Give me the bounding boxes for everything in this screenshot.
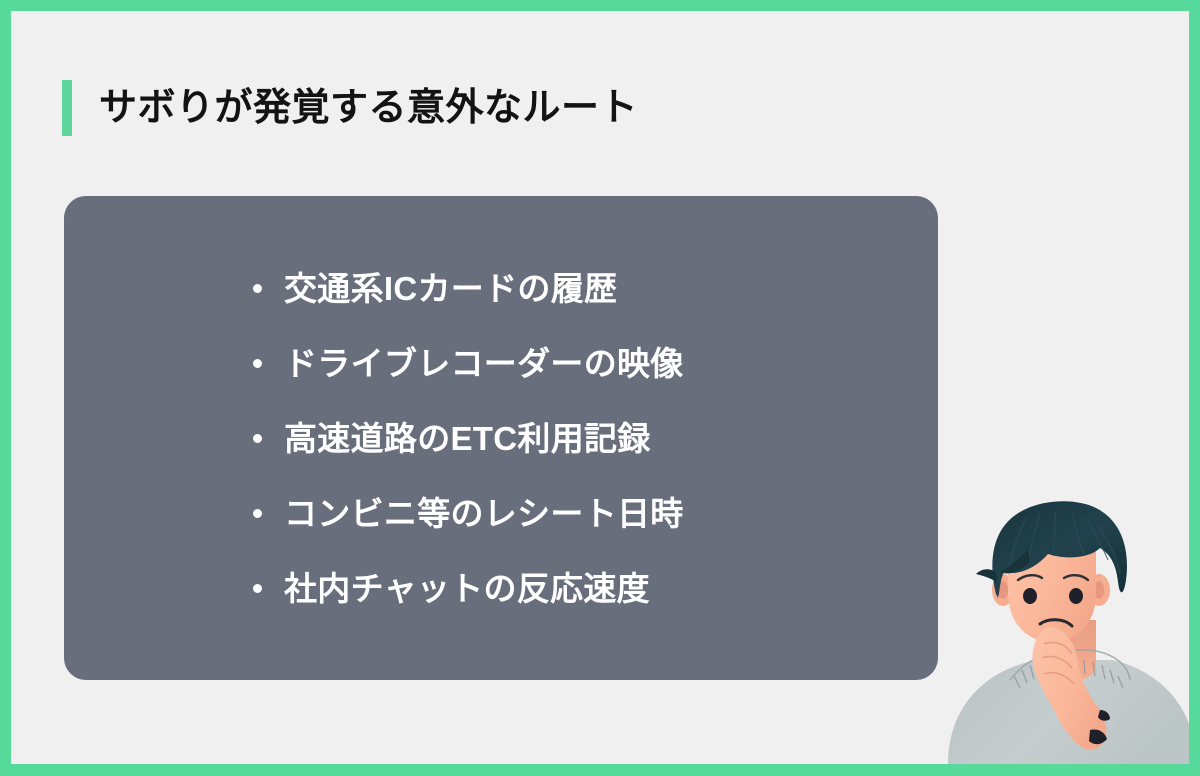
list-item: 高速道路のETC利用記録 bbox=[253, 401, 684, 476]
content-card: 交通系ICカードの履歴 ドライブレコーダーの映像 高速道路のETC利用記録 コン… bbox=[64, 196, 938, 680]
list-item: 社内チャットの反応速度 bbox=[253, 551, 684, 626]
bullet-list: 交通系ICカードの履歴 ドライブレコーダーの映像 高速道路のETC利用記録 コン… bbox=[253, 251, 684, 626]
list-item: コンビニ等のレシート日時 bbox=[253, 476, 684, 551]
slide-root: サボりが発覚する意外なルート 交通系ICカードの履歴 ドライブレコーダーの映像 … bbox=[0, 0, 1200, 776]
slide-canvas: サボりが発覚する意外なルート 交通系ICカードの履歴 ドライブレコーダーの映像 … bbox=[11, 11, 1189, 764]
bullet-dot-icon bbox=[253, 509, 262, 518]
list-item-label: ドライブレコーダーの映像 bbox=[284, 347, 684, 380]
title-accent-bar bbox=[62, 80, 72, 136]
list-item-label: 交通系ICカードの履歴 bbox=[284, 272, 617, 305]
list-item-label: 高速道路のETC利用記録 bbox=[284, 422, 651, 455]
list-item: ドライブレコーダーの映像 bbox=[253, 326, 684, 401]
list-item-label: 社内チャットの反応速度 bbox=[284, 572, 650, 605]
bullet-dot-icon bbox=[253, 359, 262, 368]
bullet-dot-icon bbox=[253, 434, 262, 443]
list-item-label: コンビニ等のレシート日時 bbox=[284, 497, 684, 530]
list-item: 交通系ICカードの履歴 bbox=[253, 251, 684, 326]
bullet-dot-icon bbox=[253, 284, 262, 293]
thinking-man-illustration bbox=[930, 498, 1189, 764]
title-label: サボりが発覚する意外なルート bbox=[99, 89, 638, 127]
page-title: サボりが発覚する意外なルート bbox=[62, 74, 638, 142]
bullet-dot-icon bbox=[253, 584, 262, 593]
